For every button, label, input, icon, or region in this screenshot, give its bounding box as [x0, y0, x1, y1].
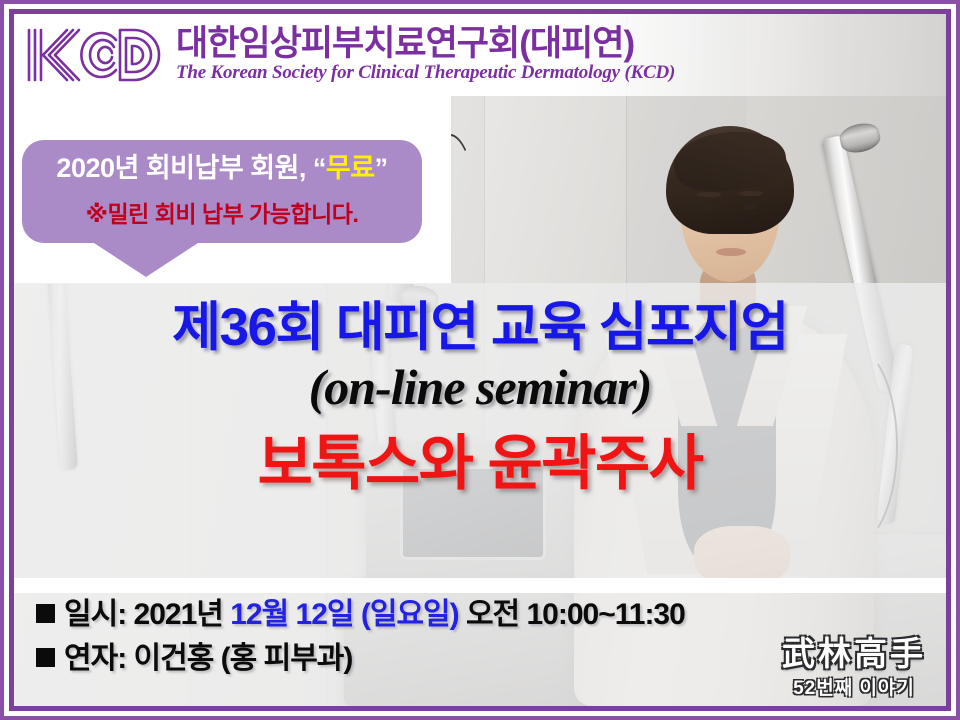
date-highlight: 12월 12일 (일요일) — [230, 598, 458, 631]
callout-highlight: 무료 — [326, 153, 375, 183]
seminar-poster: 대한임상피부치료연구회(대피연) The Korean Society for … — [0, 0, 960, 720]
seminar-subtitle: (on-line seminar) — [14, 358, 946, 416]
date-label: 일시: — [64, 598, 134, 631]
watermark-chinese: 武林高手 — [782, 637, 926, 670]
bullet-square-icon — [36, 604, 55, 623]
speaker-photo-hands — [694, 526, 790, 588]
organization-name-english: The Korean Society for Clinical Therapeu… — [176, 62, 675, 84]
watermark-korean: 52번째 이야기 — [782, 673, 926, 700]
kcd-logo — [24, 24, 164, 86]
bullet-square-icon — [36, 648, 55, 667]
organization-name-korean: 대한임상피부치료연구회(대피연) — [176, 26, 675, 62]
callout-prefix: 2020년 회비납부 회원, — [56, 153, 312, 183]
date-time: 오전 10:00~11:30 — [459, 598, 685, 631]
callout-body: 2020년 회비납부 회원, “무료” ※밀린 회비 납부 가능합니다. — [22, 140, 422, 243]
poster-header: 대한임상피부치료연구회(대피연) The Korean Society for … — [14, 14, 946, 96]
seminar-title: 제36회 대피연 교육 심포지엄 — [14, 300, 946, 356]
callout-tail — [94, 243, 198, 277]
seminar-details: 일시: 2021년 12월 12일 (일요일) 오전 10:00~11:30 연… — [36, 600, 685, 688]
series-watermark: 武林高手 52번째 이야기 — [782, 637, 926, 700]
callout-quote-close: ” — [375, 153, 388, 183]
date-year: 2021년 — [134, 598, 231, 631]
speaker-label: 연자: — [64, 642, 134, 675]
callout-line-2: ※밀린 회비 납부 가능합니다. — [32, 195, 412, 229]
callout-line-1: 2020년 회비납부 회원, “무료” — [32, 152, 412, 186]
callout-quote-open: “ — [313, 153, 326, 183]
speaker-value: 이건홍 (홍 피부과) — [134, 642, 353, 675]
speaker-line: 연자: 이건홍 (홍 피부과) — [36, 644, 685, 674]
fee-notice-callout: 2020년 회비납부 회원, “무료” ※밀린 회비 납부 가능합니다. — [22, 140, 422, 277]
title-block: 제36회 대피연 교육 심포지엄 (on-line seminar) 보톡스와 … — [14, 300, 946, 495]
date-line: 일시: 2021년 12월 12일 (일요일) 오전 10:00~11:30 — [36, 600, 685, 630]
seminar-topic: 보톡스와 윤곽주사 — [14, 432, 946, 495]
